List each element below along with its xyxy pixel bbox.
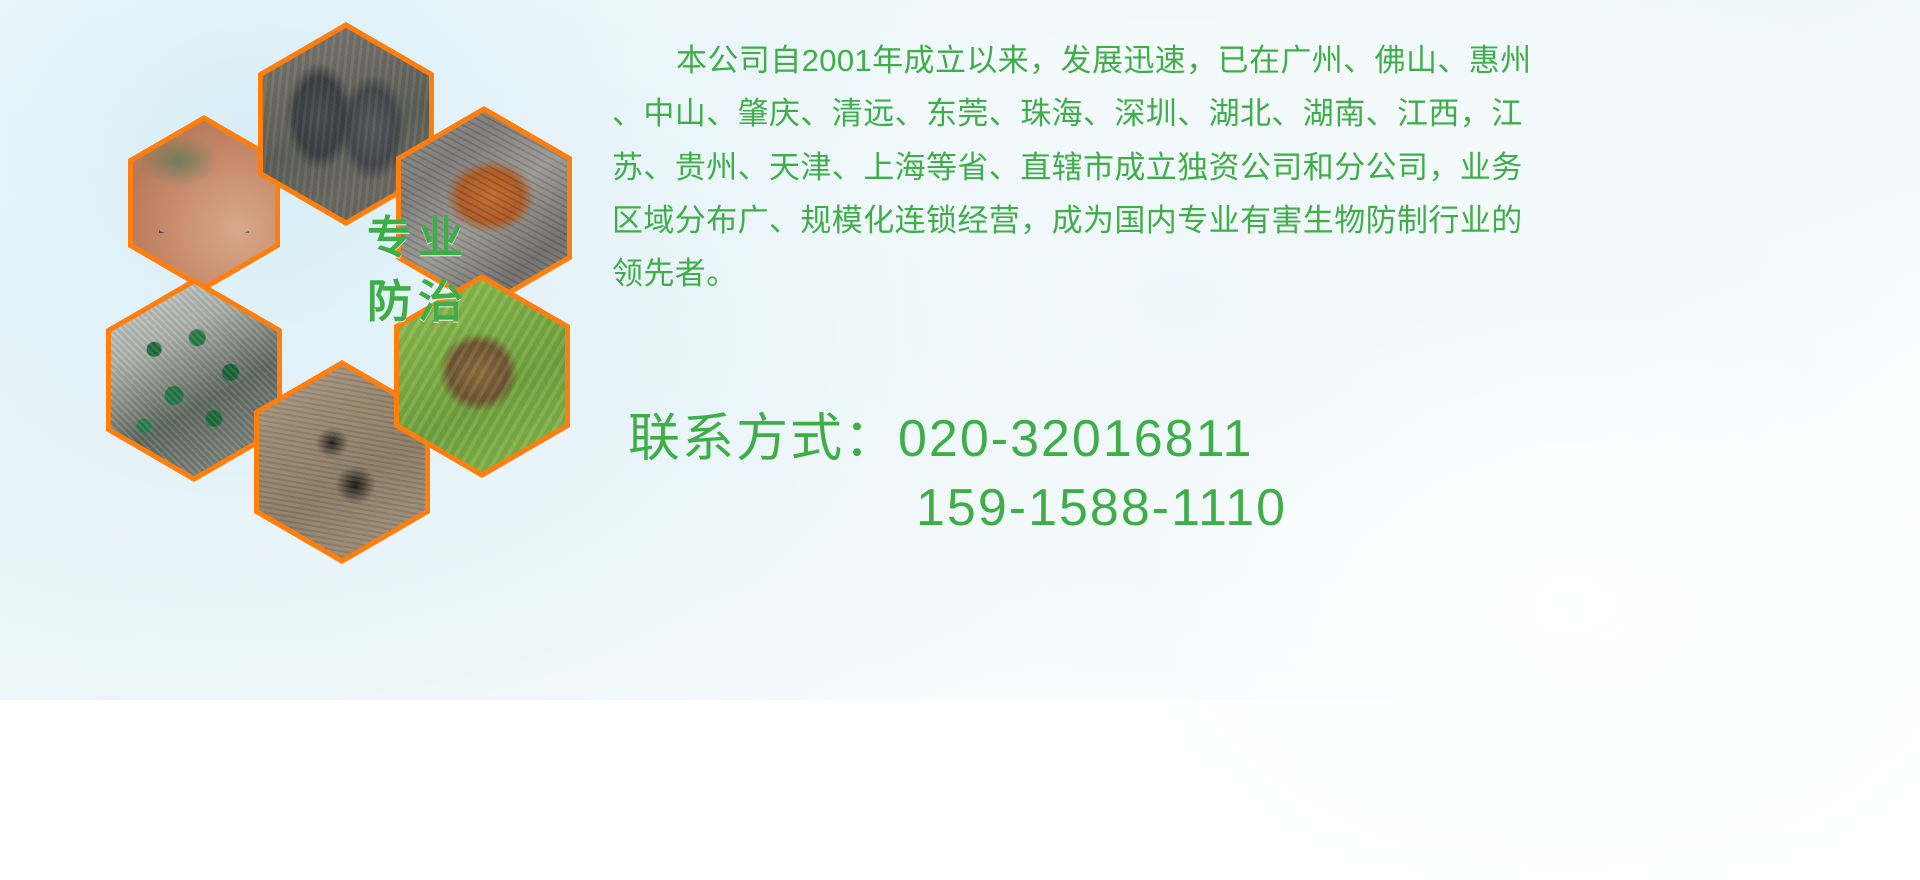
flies-photo — [111, 284, 277, 476]
contact-block: 联系方式：020-32016811 159-1588-1110 — [628, 405, 1287, 542]
promotional-banner: 专业 防治 本公司自2001年成立以来，发展迅速，已在广州、佛山、惠州 、中山、… — [0, 0, 1920, 700]
intro-line: 、中山、肇庆、清远、东莞、珠海、深圳、湖北、湖南、江西，江 — [612, 87, 1882, 140]
slogan-line-1: 专业 — [334, 206, 502, 270]
contact-primary-line[interactable]: 联系方式：020-32016811 — [628, 405, 1287, 474]
company-intro-paragraph: 本公司自2001年成立以来，发展迅速，已在广州、佛山、惠州 、中山、肇庆、清远、… — [612, 34, 1882, 301]
intro-line: 区域分布广、规模化连锁经营，成为国内专业有害生物防制行业的 — [612, 194, 1882, 247]
slogan-line-2: 防治 — [334, 270, 502, 334]
hexagon-image-cluster: 专业 防治 — [86, 10, 586, 570]
hex-tile-mosquito — [128, 115, 280, 291]
copy-column: 本公司自2001年成立以来，发展迅速，已在广州、佛山、惠州 、中山、肇庆、清远、… — [612, 34, 1882, 301]
contact-secondary-line[interactable]: 159-1588-1110 — [628, 474, 1287, 543]
background-glow-right — [1160, 320, 1920, 880]
intro-line: 本公司自2001年成立以来，发展迅速，已在广州、佛山、惠州 — [612, 34, 1882, 87]
hex-center-slogan: 专业 防治 — [334, 206, 502, 334]
intro-line: 领先者。 — [612, 247, 1882, 300]
intro-line: 苏、贵州、天津、上海等省、直辖市成立独资公司和分公司，业务 — [612, 141, 1882, 194]
mosquito-photo — [133, 121, 275, 285]
